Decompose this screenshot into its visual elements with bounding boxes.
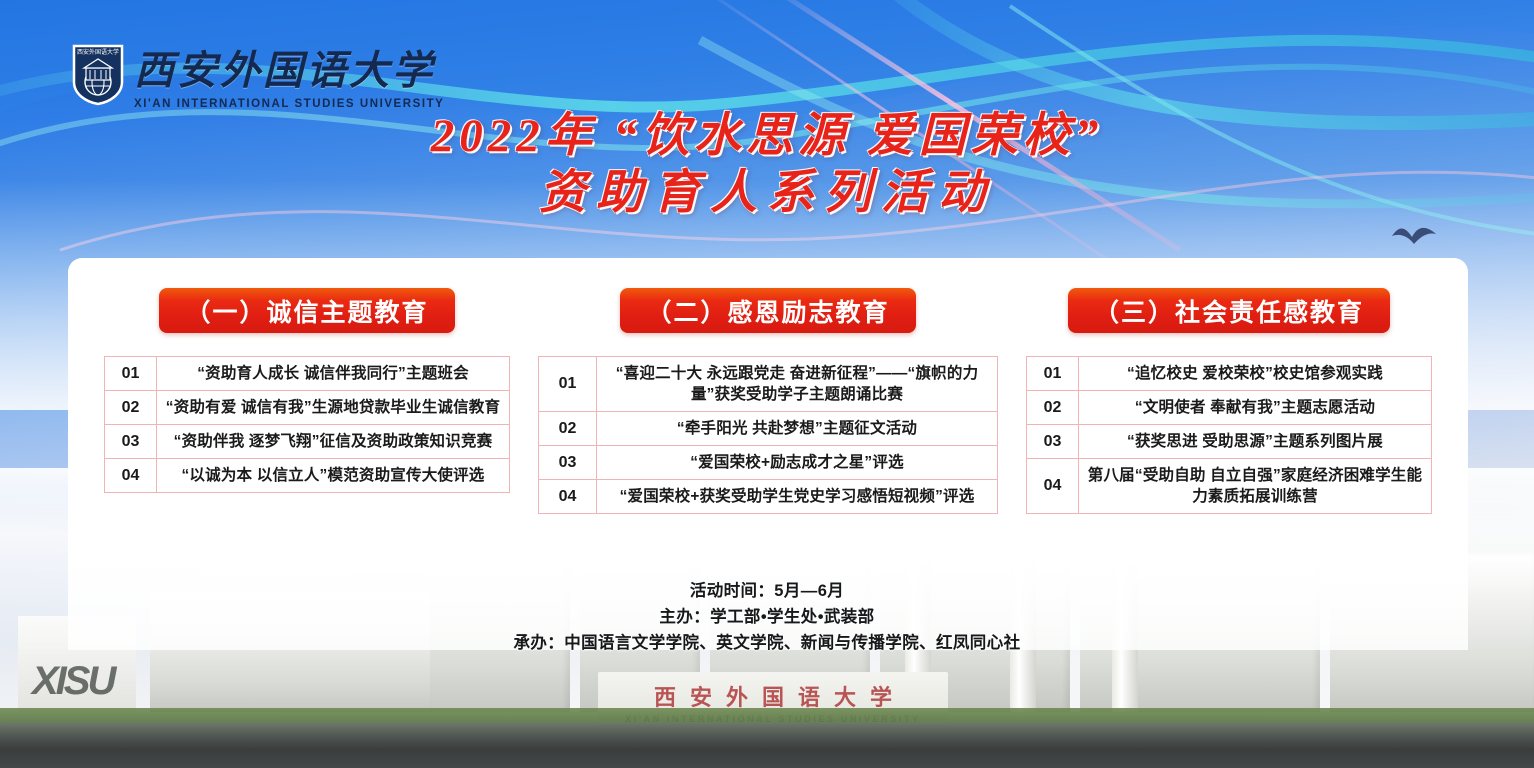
row-number: 03 <box>539 446 597 480</box>
activity-columns: （一）诚信主题教育 01 “资助育人成长 诚信伴我同行”主题班会 02 “资助有… <box>68 258 1468 514</box>
activity-column-1: （一）诚信主题教育 01 “资助育人成长 诚信伴我同行”主题班会 02 “资助有… <box>104 288 510 514</box>
poster-footer: 活动时间：5月—6月 主办：学工部•学生处•武装部 承办：中国语言文学学院、英文… <box>0 578 1534 656</box>
row-text: “资助伴我 逐梦飞翔”征信及资助政策知识竞赛 <box>157 425 510 459</box>
section-heading-2: （二）感恩励志教育 <box>620 288 915 333</box>
section-heading-1: （一）诚信主题教育 <box>159 288 454 333</box>
row-text: “文明使者 奉献有我”主题志愿活动 <box>1079 391 1432 425</box>
table-row: 02 “牵手阳光 共赴梦想”主题征文活动 <box>539 412 998 446</box>
row-text: “爱国荣校+获奖受助学生党史学习感悟短视频”评选 <box>597 480 998 514</box>
row-number: 03 <box>1027 425 1079 459</box>
row-number: 01 <box>1027 357 1079 391</box>
row-text: 第八届“受助自助 自立自强”家庭经济困难学生能力素质拓展训练营 <box>1079 459 1432 514</box>
logo-name-cn: 西安外国语大学 <box>134 38 444 96</box>
row-text: “追忆校史 爱校荣校”校史馆参观实践 <box>1079 357 1432 391</box>
row-text: “爱国荣校+励志成才之星”评选 <box>597 446 998 480</box>
monument-letters: XISU <box>32 659 113 704</box>
row-text: “资助有爱 诚信有我”生源地贷款毕业生诚信教育 <box>157 391 510 425</box>
row-number: 04 <box>539 480 597 514</box>
table-row: 02 “文明使者 奉献有我”主题志愿活动 <box>1027 391 1432 425</box>
row-text: “获奖思进 受助思源”主题系列图片展 <box>1079 425 1432 459</box>
row-number: 02 <box>105 391 157 425</box>
poster-title: 2022年 “饮水思源 爱国荣校” 资助育人系列活动 <box>0 108 1534 222</box>
poster-canvas: XISU 西安外国语大学 XI'AN INTERNATIONAL STUDIES… <box>0 0 1534 768</box>
svg-text:西安外国语大学: 西安外国语大学 <box>77 48 119 56</box>
table-row: 01 “追忆校史 爱校荣校”校史馆参观实践 <box>1027 357 1432 391</box>
table-row: 04 “以诚为本 以信立人”模范资助宣传大使评选 <box>105 459 510 493</box>
university-logo: 西安外国语大学 西安外国语大学 XI'AN INTERNATIONAL STUD… <box>70 38 444 110</box>
table-row: 03 “资助伴我 逐梦飞翔”征信及资助政策知识竞赛 <box>105 425 510 459</box>
row-number: 02 <box>539 412 597 446</box>
footer-time: 活动时间：5月—6月 <box>0 578 1534 604</box>
table-row: 01 “喜迎二十大 永远跟党走 奋进新征程”——“旗帜的力量”获奖受助学子主题朗… <box>539 357 998 412</box>
row-text: “喜迎二十大 永远跟党走 奋进新征程”——“旗帜的力量”获奖受助学子主题朗诵比赛 <box>597 357 998 412</box>
university-crest-icon: 西安外国语大学 <box>70 42 126 106</box>
table-row: 02 “资助有爱 诚信有我”生源地贷款毕业生诚信教育 <box>105 391 510 425</box>
table-row: 03 “爱国荣校+励志成才之星”评选 <box>539 446 998 480</box>
row-text: “以诚为本 以信立人”模范资助宣传大使评选 <box>157 459 510 493</box>
footer-organizer: 主办：学工部•学生处•武装部 <box>0 604 1534 630</box>
table-row: 01 “资助育人成长 诚信伴我同行”主题班会 <box>105 357 510 391</box>
activity-column-2: （二）感恩励志教育 01 “喜迎二十大 永远跟党走 奋进新征程”——“旗帜的力量… <box>538 288 998 514</box>
section-heading-3: （三）社会责任感教育 <box>1068 288 1390 333</box>
row-text: “牵手阳光 共赴梦想”主题征文活动 <box>597 412 998 446</box>
poster-title-line1: 2022年 “饮水思源 爱国荣校” <box>0 108 1534 164</box>
activity-table-2: 01 “喜迎二十大 永远跟党走 奋进新征程”——“旗帜的力量”获奖受助学子主题朗… <box>538 356 998 514</box>
row-number: 04 <box>105 459 157 493</box>
activity-table-3: 01 “追忆校史 爱校荣校”校史馆参观实践 02 “文明使者 奉献有我”主题志愿… <box>1026 356 1432 514</box>
footer-co-organizer: 承办：中国语言文学学院、英文学院、新闻与传播学院、红凤同心社 <box>0 630 1534 656</box>
poster-title-line2: 资助育人系列活动 <box>0 164 1534 222</box>
activity-table-1: 01 “资助育人成长 诚信伴我同行”主题班会 02 “资助有爱 诚信有我”生源地… <box>104 356 510 493</box>
table-row: 03 “获奖思进 受助思源”主题系列图片展 <box>1027 425 1432 459</box>
activity-column-3: （三）社会责任感教育 01 “追忆校史 爱校荣校”校史馆参观实践 02 “文明使… <box>1026 288 1432 514</box>
row-text: “资助育人成长 诚信伴我同行”主题班会 <box>157 357 510 391</box>
row-number: 01 <box>105 357 157 391</box>
table-row: 04 第八届“受助自助 自立自强”家庭经济困难学生能力素质拓展训练营 <box>1027 459 1432 514</box>
row-number: 01 <box>539 357 597 412</box>
table-row: 04 “爱国荣校+获奖受助学生党史学习感悟短视频”评选 <box>539 480 998 514</box>
row-number: 02 <box>1027 391 1079 425</box>
flying-bird-icon <box>1390 222 1438 252</box>
row-number: 03 <box>105 425 157 459</box>
row-number: 04 <box>1027 459 1079 514</box>
